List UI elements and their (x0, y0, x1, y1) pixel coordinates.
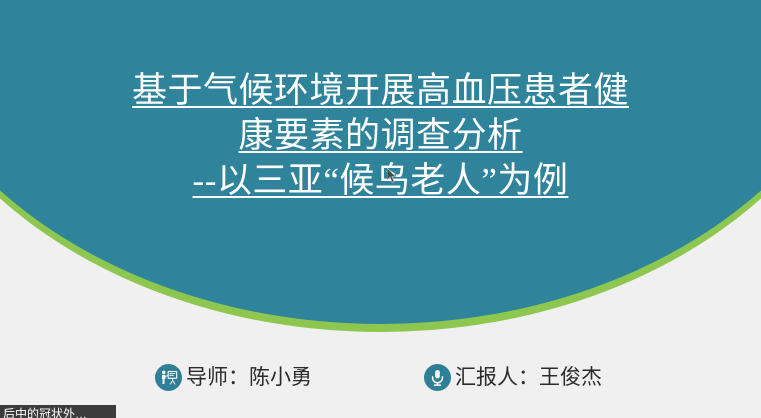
credit-advisor: 导师：陈小勇 (155, 364, 312, 391)
teacher-presenting-icon (155, 364, 182, 391)
credit-presenter-label: 汇报人：王俊杰 (455, 364, 602, 391)
credits-row: 导师：陈小勇 汇报人：王俊杰 (0, 364, 761, 404)
credit-advisor-label: 导师：陈小勇 (186, 364, 312, 391)
title-line-1: 基于气候环境开展高血压患者健 (0, 68, 761, 113)
caption-overlay: 后中的冠状外… (0, 405, 116, 418)
slide-title: 基于气候环境开展高血压患者健 康要素的调查分析 --以三亚“候鸟老人”为例 (0, 68, 761, 203)
title-line-3: --以三亚“候鸟老人”为例 (0, 158, 761, 203)
presentation-slide: 基于气候环境开展高血压患者健 康要素的调查分析 --以三亚“候鸟老人”为例 (0, 0, 761, 418)
microphone-icon (424, 364, 451, 391)
title-line-2: 康要素的调查分析 (0, 113, 761, 158)
credit-presenter: 汇报人：王俊杰 (424, 364, 602, 391)
